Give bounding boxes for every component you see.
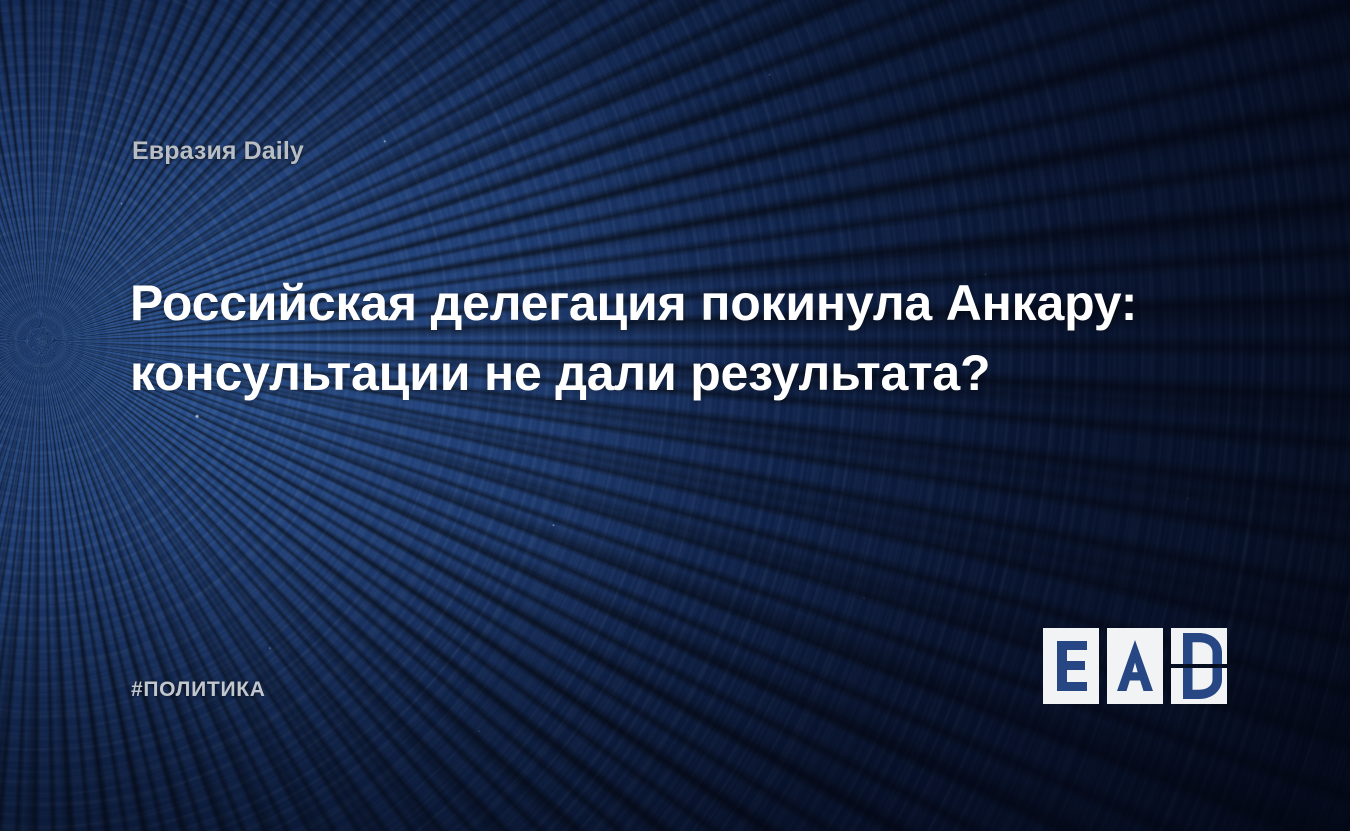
news-share-card: Евразия Daily Российская делегация покин… — [0, 0, 1350, 831]
logo-tile-a — [1107, 628, 1163, 704]
category-hashtag: #ПОЛИТИКА — [131, 678, 266, 702]
card-content: Евразия Daily Российская делегация покин… — [0, 0, 1350, 831]
logo-tile-d — [1171, 628, 1227, 704]
brand-wordmark: Евразия Daily — [132, 137, 304, 166]
eadaily-logo — [1043, 628, 1227, 704]
page-title: Российская делегация покинула Анкару: ко… — [130, 268, 1250, 408]
logo-tile-e — [1043, 628, 1099, 704]
